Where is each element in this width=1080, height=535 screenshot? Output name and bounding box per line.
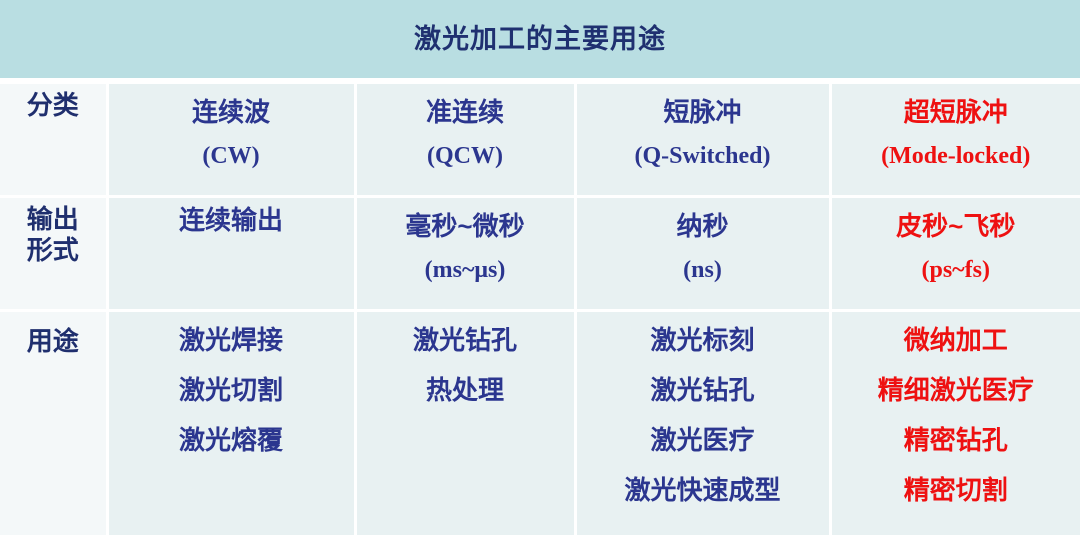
application-item: 激光快速成型	[624, 474, 780, 506]
cell-classification-mode-locked: 超短脉冲 (Mode-locked)	[830, 84, 1080, 196]
application-item: 激光医疗	[650, 424, 754, 456]
cell-application-mode-locked: 微纳加工 精细激光医疗 精密钻孔 精密切割	[830, 310, 1080, 535]
output-value-qcw: 毫秒~微秒	[405, 210, 524, 242]
row-label-classification: 分类	[27, 90, 79, 122]
row-label-output-form-line2: 形式	[27, 235, 79, 267]
classification-abbr-qcw: (QCW)	[427, 142, 503, 171]
cell-application-q-switched: 激光标刻 激光钻孔 激光医疗 激光快速成型	[575, 310, 830, 535]
classification-name-qcw: 准连续	[426, 96, 504, 128]
application-item: 激光焊接	[179, 324, 283, 356]
row-header-output-form: 输出 形式	[0, 196, 107, 310]
classification-abbr-cw: (CW)	[202, 142, 259, 171]
application-item: 微纳加工	[904, 324, 1008, 356]
row-label-application: 用途	[27, 326, 79, 358]
application-item: 激光钻孔	[650, 374, 754, 406]
output-unit-mode-locked: (ps~fs)	[922, 256, 990, 285]
cell-application-cw: 激光焊接 激光切割 激光熔覆	[107, 310, 355, 535]
output-unit-q-switched: (ns)	[683, 256, 722, 285]
cell-classification-q-switched: 短脉冲 (Q-Switched)	[575, 84, 830, 196]
table-row-classification: 分类 连续波 (CW) 准连续 (QCW)	[0, 84, 1080, 196]
classification-name-mode-locked: 超短脉冲	[904, 96, 1008, 128]
classification-abbr-q-switched: (Q-Switched)	[635, 142, 771, 171]
row-label-output-form-line1: 输出	[27, 204, 79, 236]
cell-classification-cw: 连续波 (CW)	[107, 84, 355, 196]
application-item: 精密钻孔	[904, 424, 1008, 456]
application-item: 激光切割	[179, 374, 283, 406]
output-value-q-switched: 纳秒	[676, 210, 728, 242]
row-header-application: 用途	[0, 310, 107, 535]
output-value-cw: 连续输出	[179, 204, 283, 236]
title-band: 激光加工的主要用途	[0, 0, 1080, 78]
application-item: 激光熔覆	[179, 424, 283, 456]
application-item: 激光钻孔	[413, 324, 517, 356]
cell-output-qcw: 毫秒~微秒 (ms~μs)	[355, 196, 575, 310]
output-value-mode-locked: 皮秒~飞秒	[896, 210, 1015, 242]
cell-output-cw: 连续输出	[107, 196, 355, 310]
classification-abbr-mode-locked: (Mode-locked)	[881, 142, 1030, 171]
table-row-output-form: 输出 形式 连续输出 毫秒~微秒 (ms~μs)	[0, 196, 1080, 310]
application-item: 热处理	[426, 374, 504, 406]
row-header-classification: 分类	[0, 84, 107, 196]
comparison-table-wrapper: 分类 连续波 (CW) 准连续 (QCW)	[0, 84, 1080, 535]
classification-name-q-switched: 短脉冲	[663, 96, 741, 128]
comparison-table: 分类 连续波 (CW) 准连续 (QCW)	[0, 84, 1080, 535]
cell-classification-qcw: 准连续 (QCW)	[355, 84, 575, 196]
output-unit-qcw: (ms~μs)	[425, 256, 506, 285]
table-page: 激光加工的主要用途 分类 连续波	[0, 0, 1080, 535]
application-item: 精密切割	[904, 474, 1008, 506]
cell-application-qcw: 激光钻孔 热处理	[355, 310, 575, 535]
application-item: 精细激光医疗	[878, 374, 1034, 406]
classification-name-cw: 连续波	[192, 96, 270, 128]
application-item: 激光标刻	[650, 324, 754, 356]
cell-output-q-switched: 纳秒 (ns)	[575, 196, 830, 310]
cell-output-mode-locked: 皮秒~飞秒 (ps~fs)	[830, 196, 1080, 310]
table-row-application: 用途 激光焊接 激光切割 激光熔覆 激光钻孔 热处理	[0, 310, 1080, 535]
page-title: 激光加工的主要用途	[414, 26, 666, 53]
